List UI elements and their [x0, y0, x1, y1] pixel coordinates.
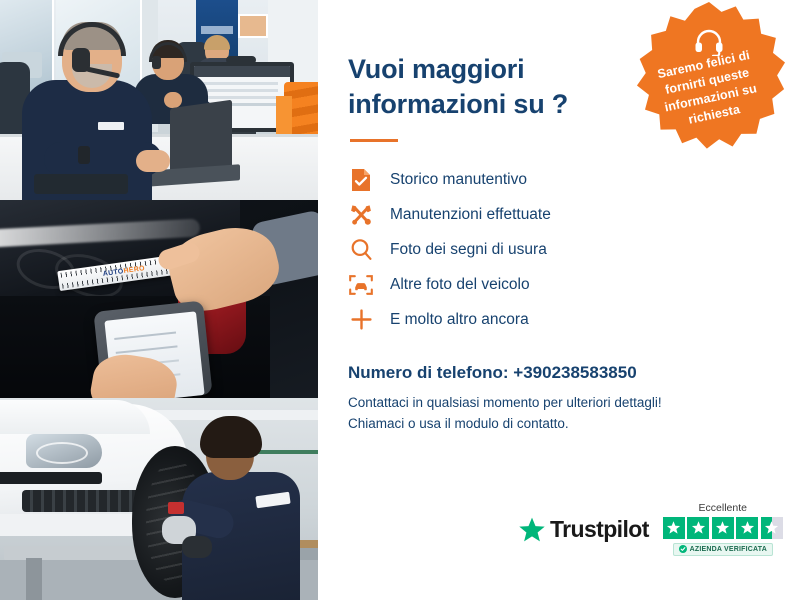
verified-check-icon: [679, 545, 687, 553]
feature-label: Foto dei segni di usura: [390, 241, 547, 259]
feature-label: Manutenzioni effettuate: [390, 206, 551, 224]
car-scan-icon: [348, 272, 374, 298]
contact-line-2: Chiamaci o usa il modulo di contatto.: [348, 414, 760, 435]
vehicle-inspection-photo: AUTOHERO: [0, 200, 318, 398]
list-item: Altre foto del veicolo: [348, 267, 760, 302]
magnifier-icon: [348, 237, 374, 263]
support-badge: Saremo felici di fornirti queste informa…: [633, 2, 785, 154]
trustpilot-star-icon: [518, 516, 546, 544]
star-filled: [687, 517, 709, 539]
rating-label: Eccellente: [663, 502, 783, 514]
star-filled: [736, 517, 758, 539]
contact-line-1: Contattaci in qualsiasi momento per ulte…: [348, 393, 760, 414]
star-filled: [712, 517, 734, 539]
list-item: Foto dei segni di usura: [348, 232, 760, 267]
feature-list: Storico manutentivo Manutenzi: [348, 162, 760, 337]
feature-label: Altre foto del veicolo: [390, 276, 530, 294]
wrench-screwdriver-icon: [348, 202, 374, 228]
status-badge: AZIENDA VERIFICATA: [673, 543, 773, 556]
trustpilot-name: Trustpilot: [550, 516, 649, 543]
trustpilot-brand: Trustpilot: [518, 516, 649, 544]
trustpilot-widget[interactable]: Trustpilot Eccellente: [518, 502, 783, 559]
feature-label: Storico manutentivo: [390, 171, 527, 189]
verified-label: AZIENDA VERIFICATA: [690, 546, 767, 553]
workshop-tire-check-photo: [0, 398, 318, 600]
call-center-agents-photo: [0, 0, 318, 200]
list-item: Storico manutentivo: [348, 162, 760, 197]
plus-icon: [348, 307, 374, 333]
content-panel: Vuoi maggiori informazioni su ? Saremo f…: [318, 0, 800, 600]
list-item: E molto altro ancora: [348, 302, 760, 337]
phone-number[interactable]: Numero di telefono: +390238583850: [348, 363, 760, 383]
star-rating: [663, 517, 783, 539]
page-title: Vuoi maggiori informazioni su ?: [348, 52, 648, 121]
trustpilot-rating: Eccellente: [663, 502, 783, 559]
title-divider: [350, 139, 398, 142]
feature-label: E molto altro ancora: [390, 311, 529, 329]
list-item: Manutenzioni effettuate: [348, 197, 760, 232]
photo-column: AUTOHERO: [0, 0, 318, 600]
contact-text: Contattaci in qualsiasi momento per ulte…: [348, 393, 760, 435]
star-filled: [663, 517, 685, 539]
promo-banner: AUTOHERO Vuoi maggiori informazioni su ?: [0, 0, 800, 600]
star-half: [761, 517, 783, 539]
document-check-icon: [348, 167, 374, 193]
